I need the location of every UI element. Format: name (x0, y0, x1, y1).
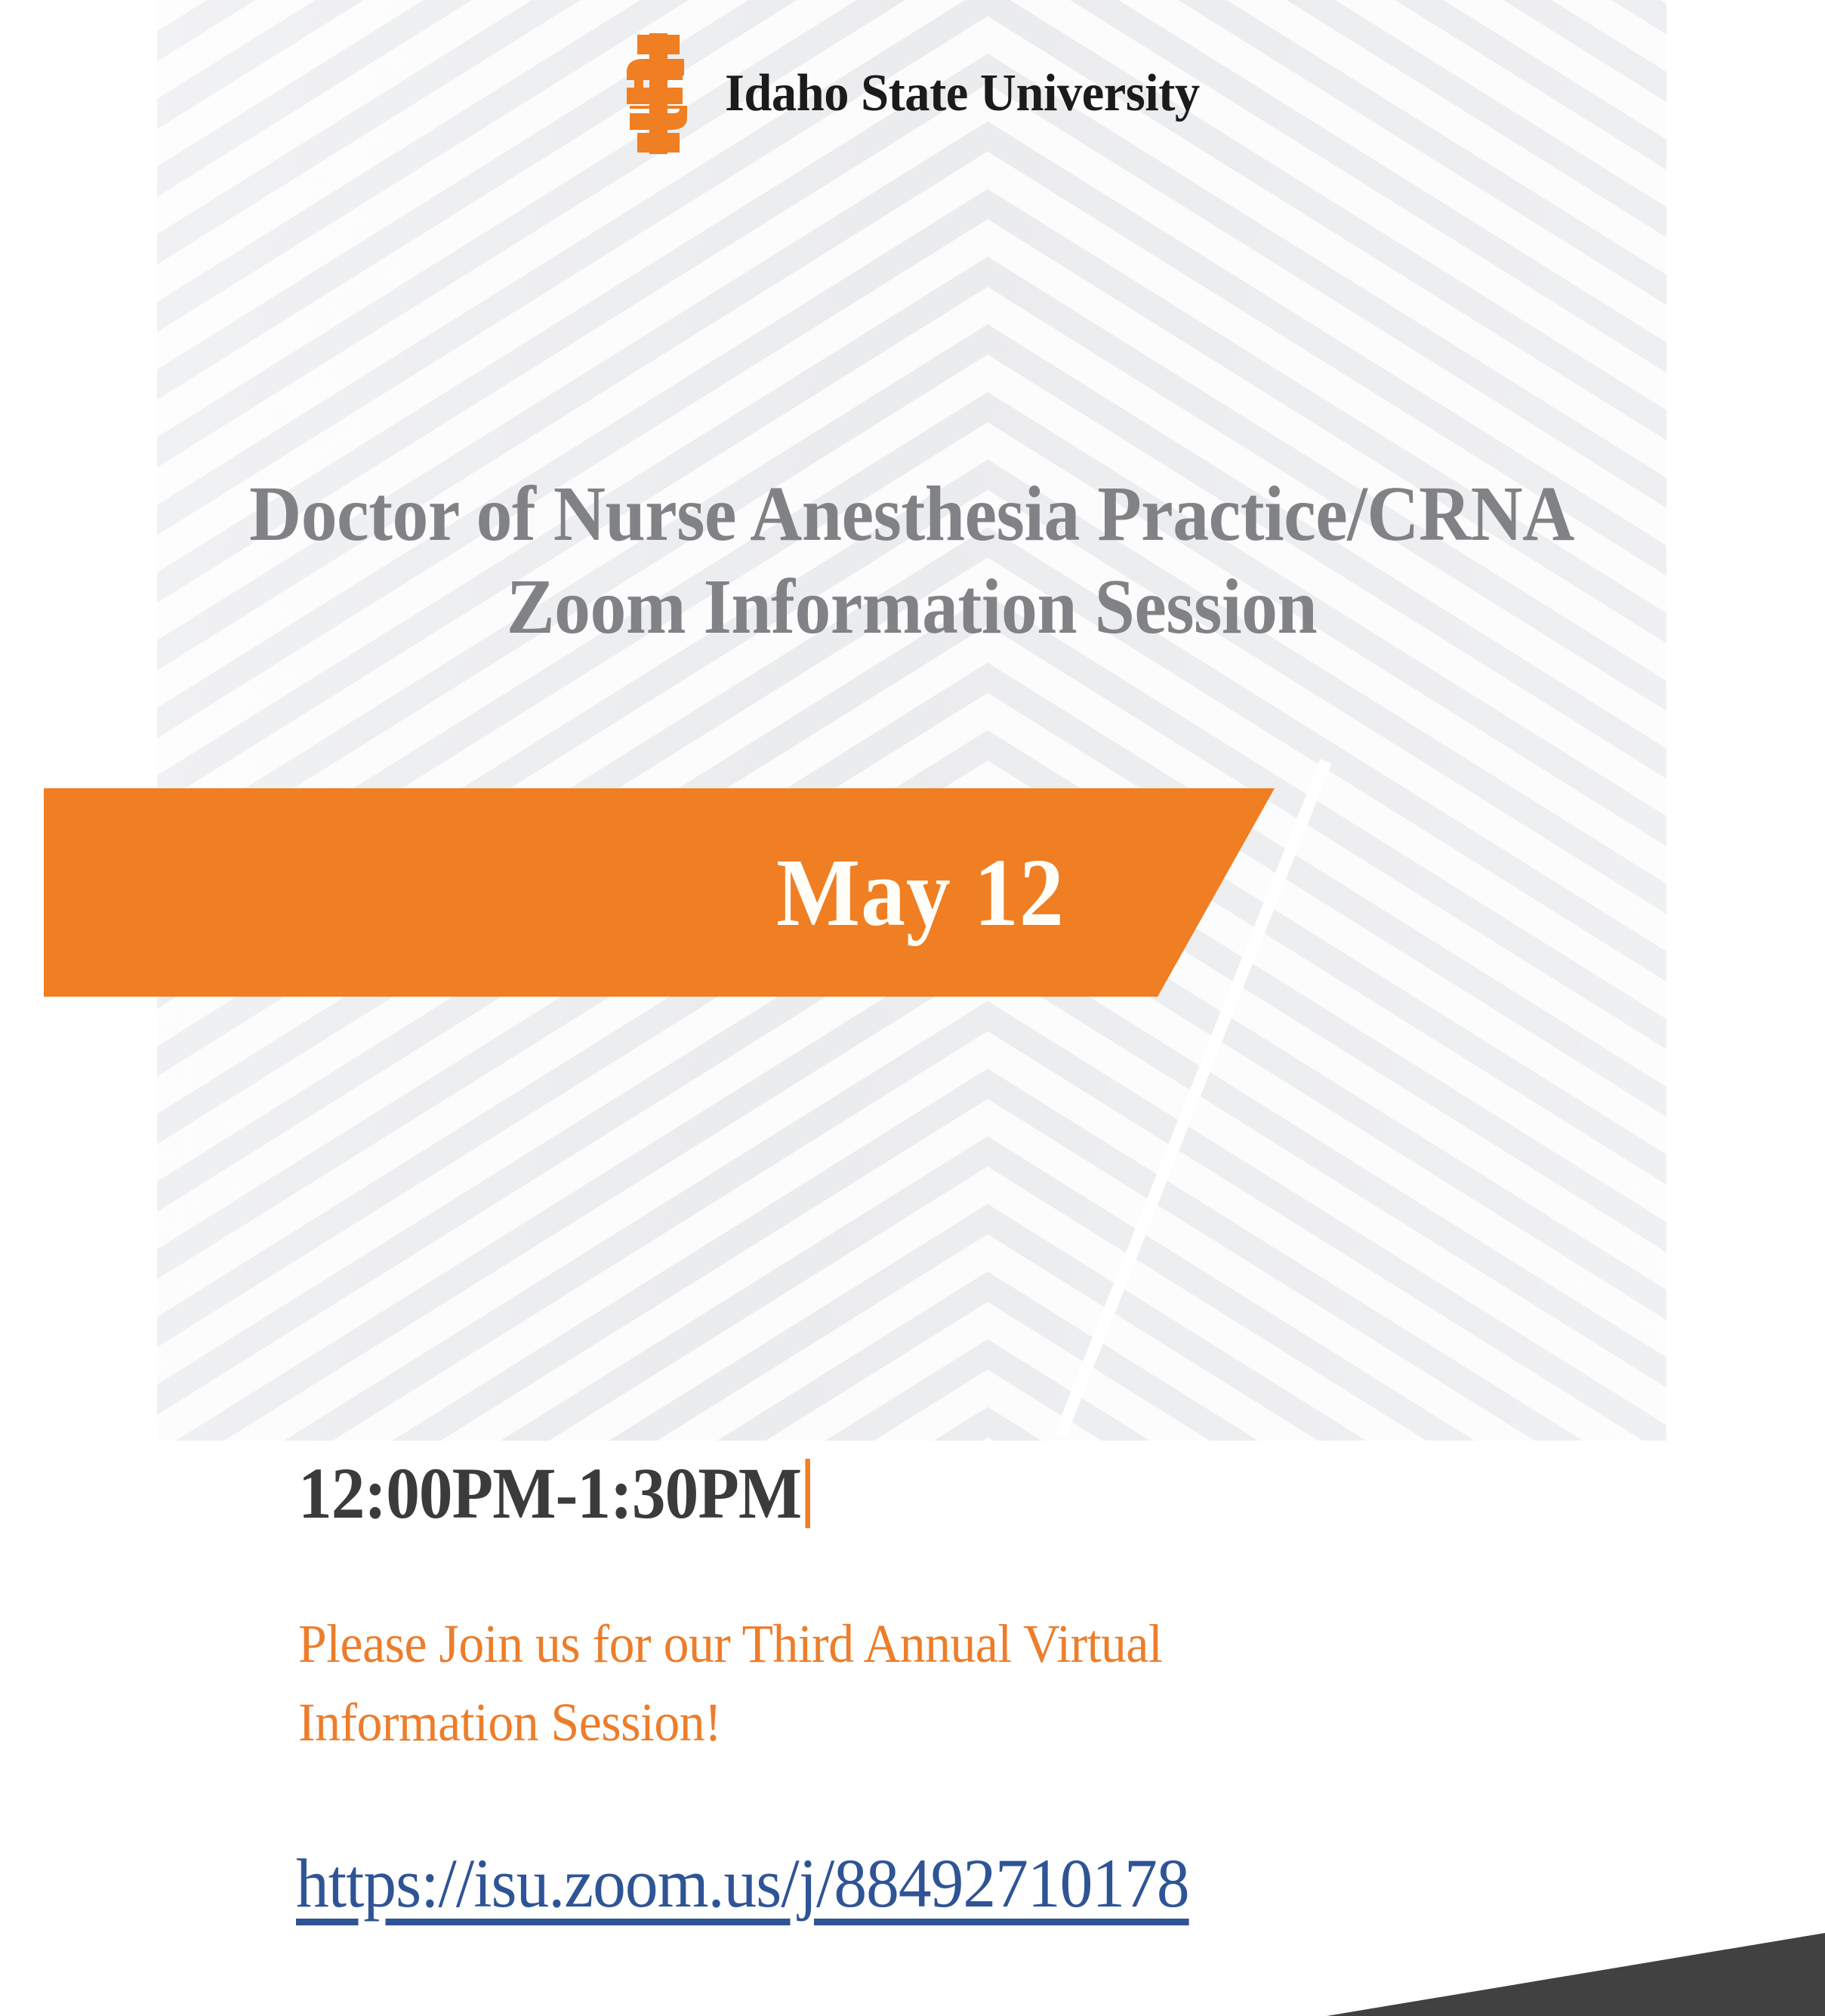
university-wordmark: Idaho State University (725, 63, 1200, 124)
page-title-line-2: Zoom Information Session (217, 561, 1606, 654)
isu-monogram-icon (621, 33, 693, 154)
invitation-text: Please Join us for our Third Annual Virt… (298, 1604, 1363, 1762)
date-banner: May 12 (44, 788, 1275, 997)
page-title-line-1: Doctor of Nurse Anesthesia Practice/CRNA (217, 468, 1606, 561)
university-logo-lockup: Idaho State University (621, 33, 1225, 154)
event-time-label: 12:00PM-1:30PM (298, 1457, 801, 1530)
panel-sheen-overlay (157, 0, 1666, 1441)
event-time: 12:00PM-1:30PM (298, 1457, 810, 1530)
zoom-meeting-link[interactable]: https://isu.zoom.us/j/88492710178 (296, 1848, 1189, 1918)
invitation-line-1: Please Join us for our Third Annual Virt… (298, 1604, 1363, 1683)
background-panel (157, 0, 1666, 1441)
text-caret-icon (806, 1459, 811, 1528)
flyer-page: Idaho State University Doctor of Nurse A… (0, 0, 1825, 2016)
date-label: May 12 (776, 844, 1065, 941)
invitation-line-2: Information Session! (298, 1683, 1363, 1762)
corner-wedge-decoration (1327, 1933, 1825, 2016)
page-title: Doctor of Nurse Anesthesia Practice/CRNA… (217, 468, 1606, 653)
